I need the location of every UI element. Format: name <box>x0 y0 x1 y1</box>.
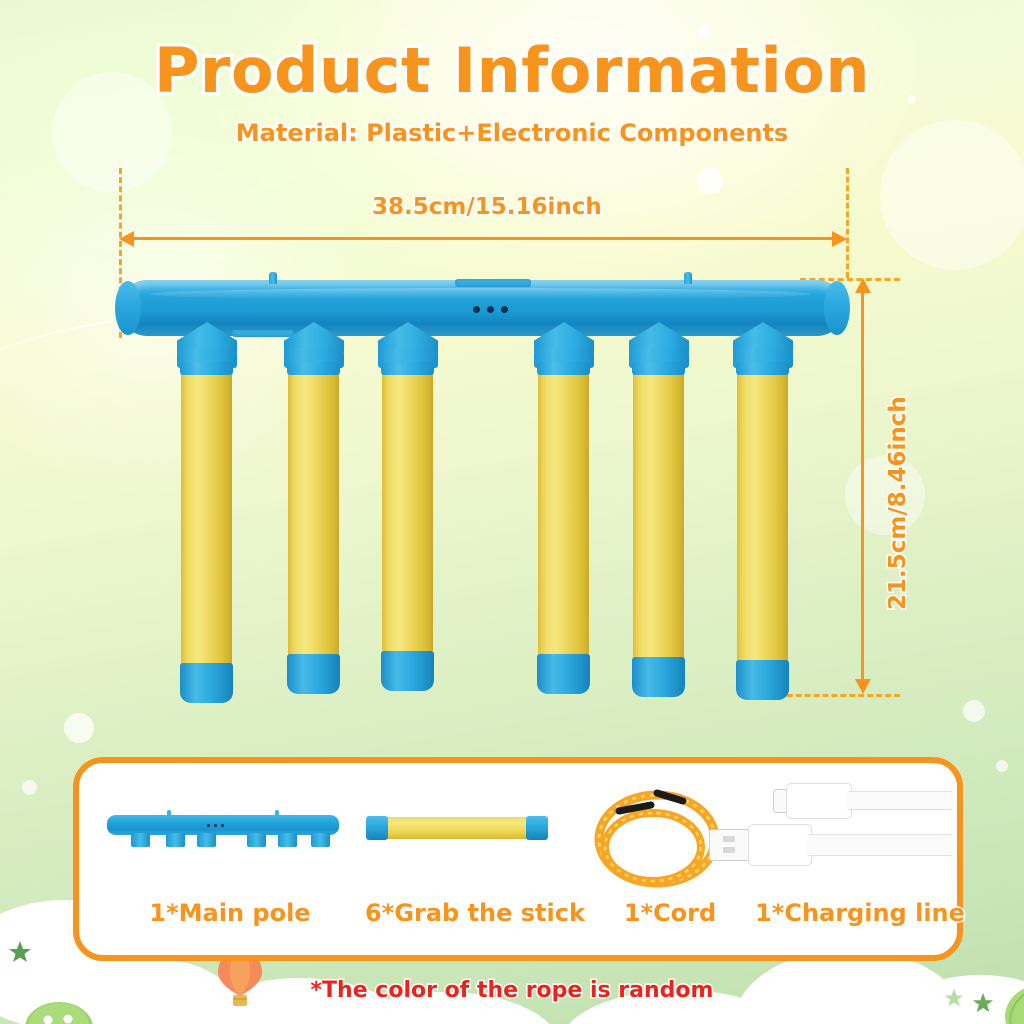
led-indicator-1 <box>473 306 480 313</box>
grab-stick-3-body <box>382 365 433 688</box>
grab-stick-3-cap <box>381 651 434 691</box>
led-indicator-2 <box>487 306 494 313</box>
parts-list-box <box>73 757 963 961</box>
main-pole-panel-bottom <box>232 330 294 337</box>
main-pole-tab-right <box>684 272 692 284</box>
grab-stick-4-body <box>538 365 589 691</box>
usb-c-wire <box>847 791 953 810</box>
main-pole-tab-left <box>269 272 277 284</box>
mini-socket-5 <box>278 833 297 847</box>
mini-socket-3 <box>197 833 216 847</box>
grab-stick-2-cap <box>287 654 340 694</box>
grab-stick-4-cap <box>537 654 590 694</box>
led-indicator-3 <box>501 306 508 313</box>
grab-stick-6-cap <box>736 660 789 700</box>
grab-stick-1-cap <box>180 663 233 703</box>
grab-stick-6-collar <box>736 362 789 375</box>
usb-a-tip <box>709 829 753 861</box>
usb-a-slot-2 <box>723 847 735 853</box>
grab-stick-2-collar <box>287 362 340 375</box>
grab-stick-5 <box>633 365 684 694</box>
rope-color-footnote: *The color of the rope is random <box>0 978 1024 1003</box>
product-illustration <box>0 0 1024 760</box>
mini-socket-1 <box>131 833 150 847</box>
product-information-page: Product Information Material: Plastic+El… <box>0 0 1024 1024</box>
usb-c-body <box>786 783 852 819</box>
mini-led-2 <box>214 824 217 827</box>
hstick-body <box>371 817 539 839</box>
usb-a-body <box>748 824 812 866</box>
mini-pole-tab-left <box>167 810 171 816</box>
grab-stick-2-body <box>288 365 339 691</box>
star-icon-left <box>8 940 32 964</box>
grab-stick-1-body <box>181 365 232 700</box>
usb-a-wire <box>807 834 953 856</box>
main-pole-highlight <box>150 288 810 300</box>
grab-stick-5-collar <box>632 362 685 375</box>
mini-socket-6 <box>311 833 330 847</box>
main-pole-right-cap <box>824 281 850 335</box>
grab-stick-3 <box>382 365 433 688</box>
grab-stick-4-collar <box>537 362 590 375</box>
grab-stick-3-collar <box>381 362 434 375</box>
hstick-end-right <box>526 816 548 840</box>
main-pole-left-cap <box>115 281 141 335</box>
grab-stick-1-collar <box>180 362 233 375</box>
grab-stick-5-body <box>633 365 684 694</box>
mini-socket-2 <box>166 833 185 847</box>
bokeh-dot-8 <box>22 780 37 795</box>
part-label-charging-line: 1*Charging line <box>720 899 1000 927</box>
mini-pole-tab-right <box>275 810 279 816</box>
mini-led-1 <box>207 824 210 827</box>
grab-stick-6-body <box>737 365 788 697</box>
grab-stick-5-cap <box>632 657 685 697</box>
bokeh-dot-11 <box>168 964 182 978</box>
grab-stick-4 <box>538 365 589 691</box>
bokeh-dot-10 <box>996 760 1008 772</box>
hstick-end-left <box>366 816 388 840</box>
mini-led-3 <box>221 824 224 827</box>
part-label-main-pole: 1*Main pole <box>95 899 365 927</box>
mini-socket-4 <box>247 833 266 847</box>
usb-a-slot-1 <box>723 836 735 842</box>
grab-stick-1 <box>181 365 232 700</box>
grab-stick-2 <box>288 365 339 691</box>
main-pole-panel <box>455 279 531 287</box>
grab-stick-6 <box>737 365 788 697</box>
